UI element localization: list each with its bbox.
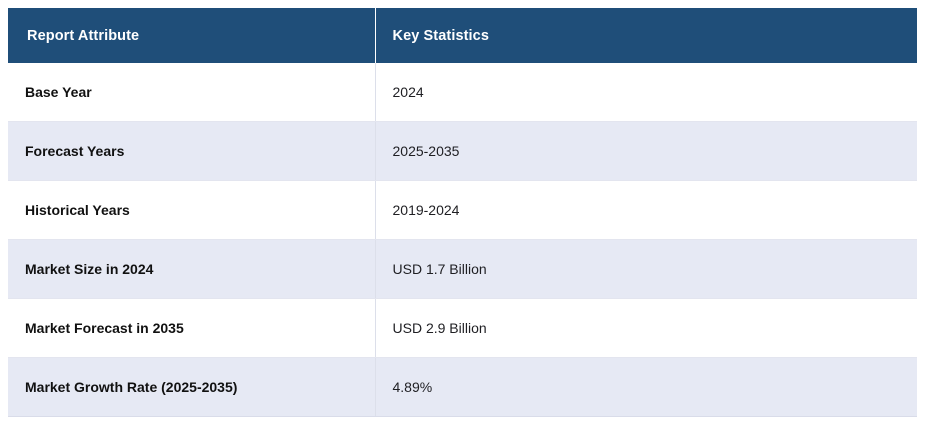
column-header-report-attribute: Report Attribute — [8, 8, 375, 63]
row-value-market-growth-rate: 4.89% — [375, 358, 917, 417]
table-row: Market Size in 2024 USD 1.7 Billion — [8, 240, 917, 299]
row-value-market-forecast-2035: USD 2.9 Billion — [375, 299, 917, 358]
table-body: Base Year 2024 Forecast Years 2025-2035 … — [8, 63, 917, 417]
column-header-key-statistics: Key Statistics — [375, 8, 917, 63]
table-header: Report Attribute Key Statistics — [8, 8, 917, 63]
table-row: Base Year 2024 — [8, 63, 917, 122]
row-label-forecast-years: Forecast Years — [8, 122, 375, 181]
row-value-forecast-years: 2025-2035 — [375, 122, 917, 181]
row-value-base-year: 2024 — [375, 63, 917, 122]
key-statistics-table-container: Report Attribute Key Statistics Base Yea… — [8, 8, 917, 416]
table-row: Forecast Years 2025-2035 — [8, 122, 917, 181]
table-row: Historical Years 2019-2024 — [8, 181, 917, 240]
row-label-historical-years: Historical Years — [8, 181, 375, 240]
table-row: Market Forecast in 2035 USD 2.9 Billion — [8, 299, 917, 358]
table-header-row: Report Attribute Key Statistics — [8, 8, 917, 63]
table-row: Market Growth Rate (2025-2035) 4.89% — [8, 358, 917, 417]
row-label-base-year: Base Year — [8, 63, 375, 122]
row-label-market-growth-rate: Market Growth Rate (2025-2035) — [8, 358, 375, 417]
key-statistics-table: Report Attribute Key Statistics Base Yea… — [8, 8, 917, 417]
row-value-market-size-2024: USD 1.7 Billion — [375, 240, 917, 299]
row-value-historical-years: 2019-2024 — [375, 181, 917, 240]
row-label-market-size-2024: Market Size in 2024 — [8, 240, 375, 299]
row-label-market-forecast-2035: Market Forecast in 2035 — [8, 299, 375, 358]
